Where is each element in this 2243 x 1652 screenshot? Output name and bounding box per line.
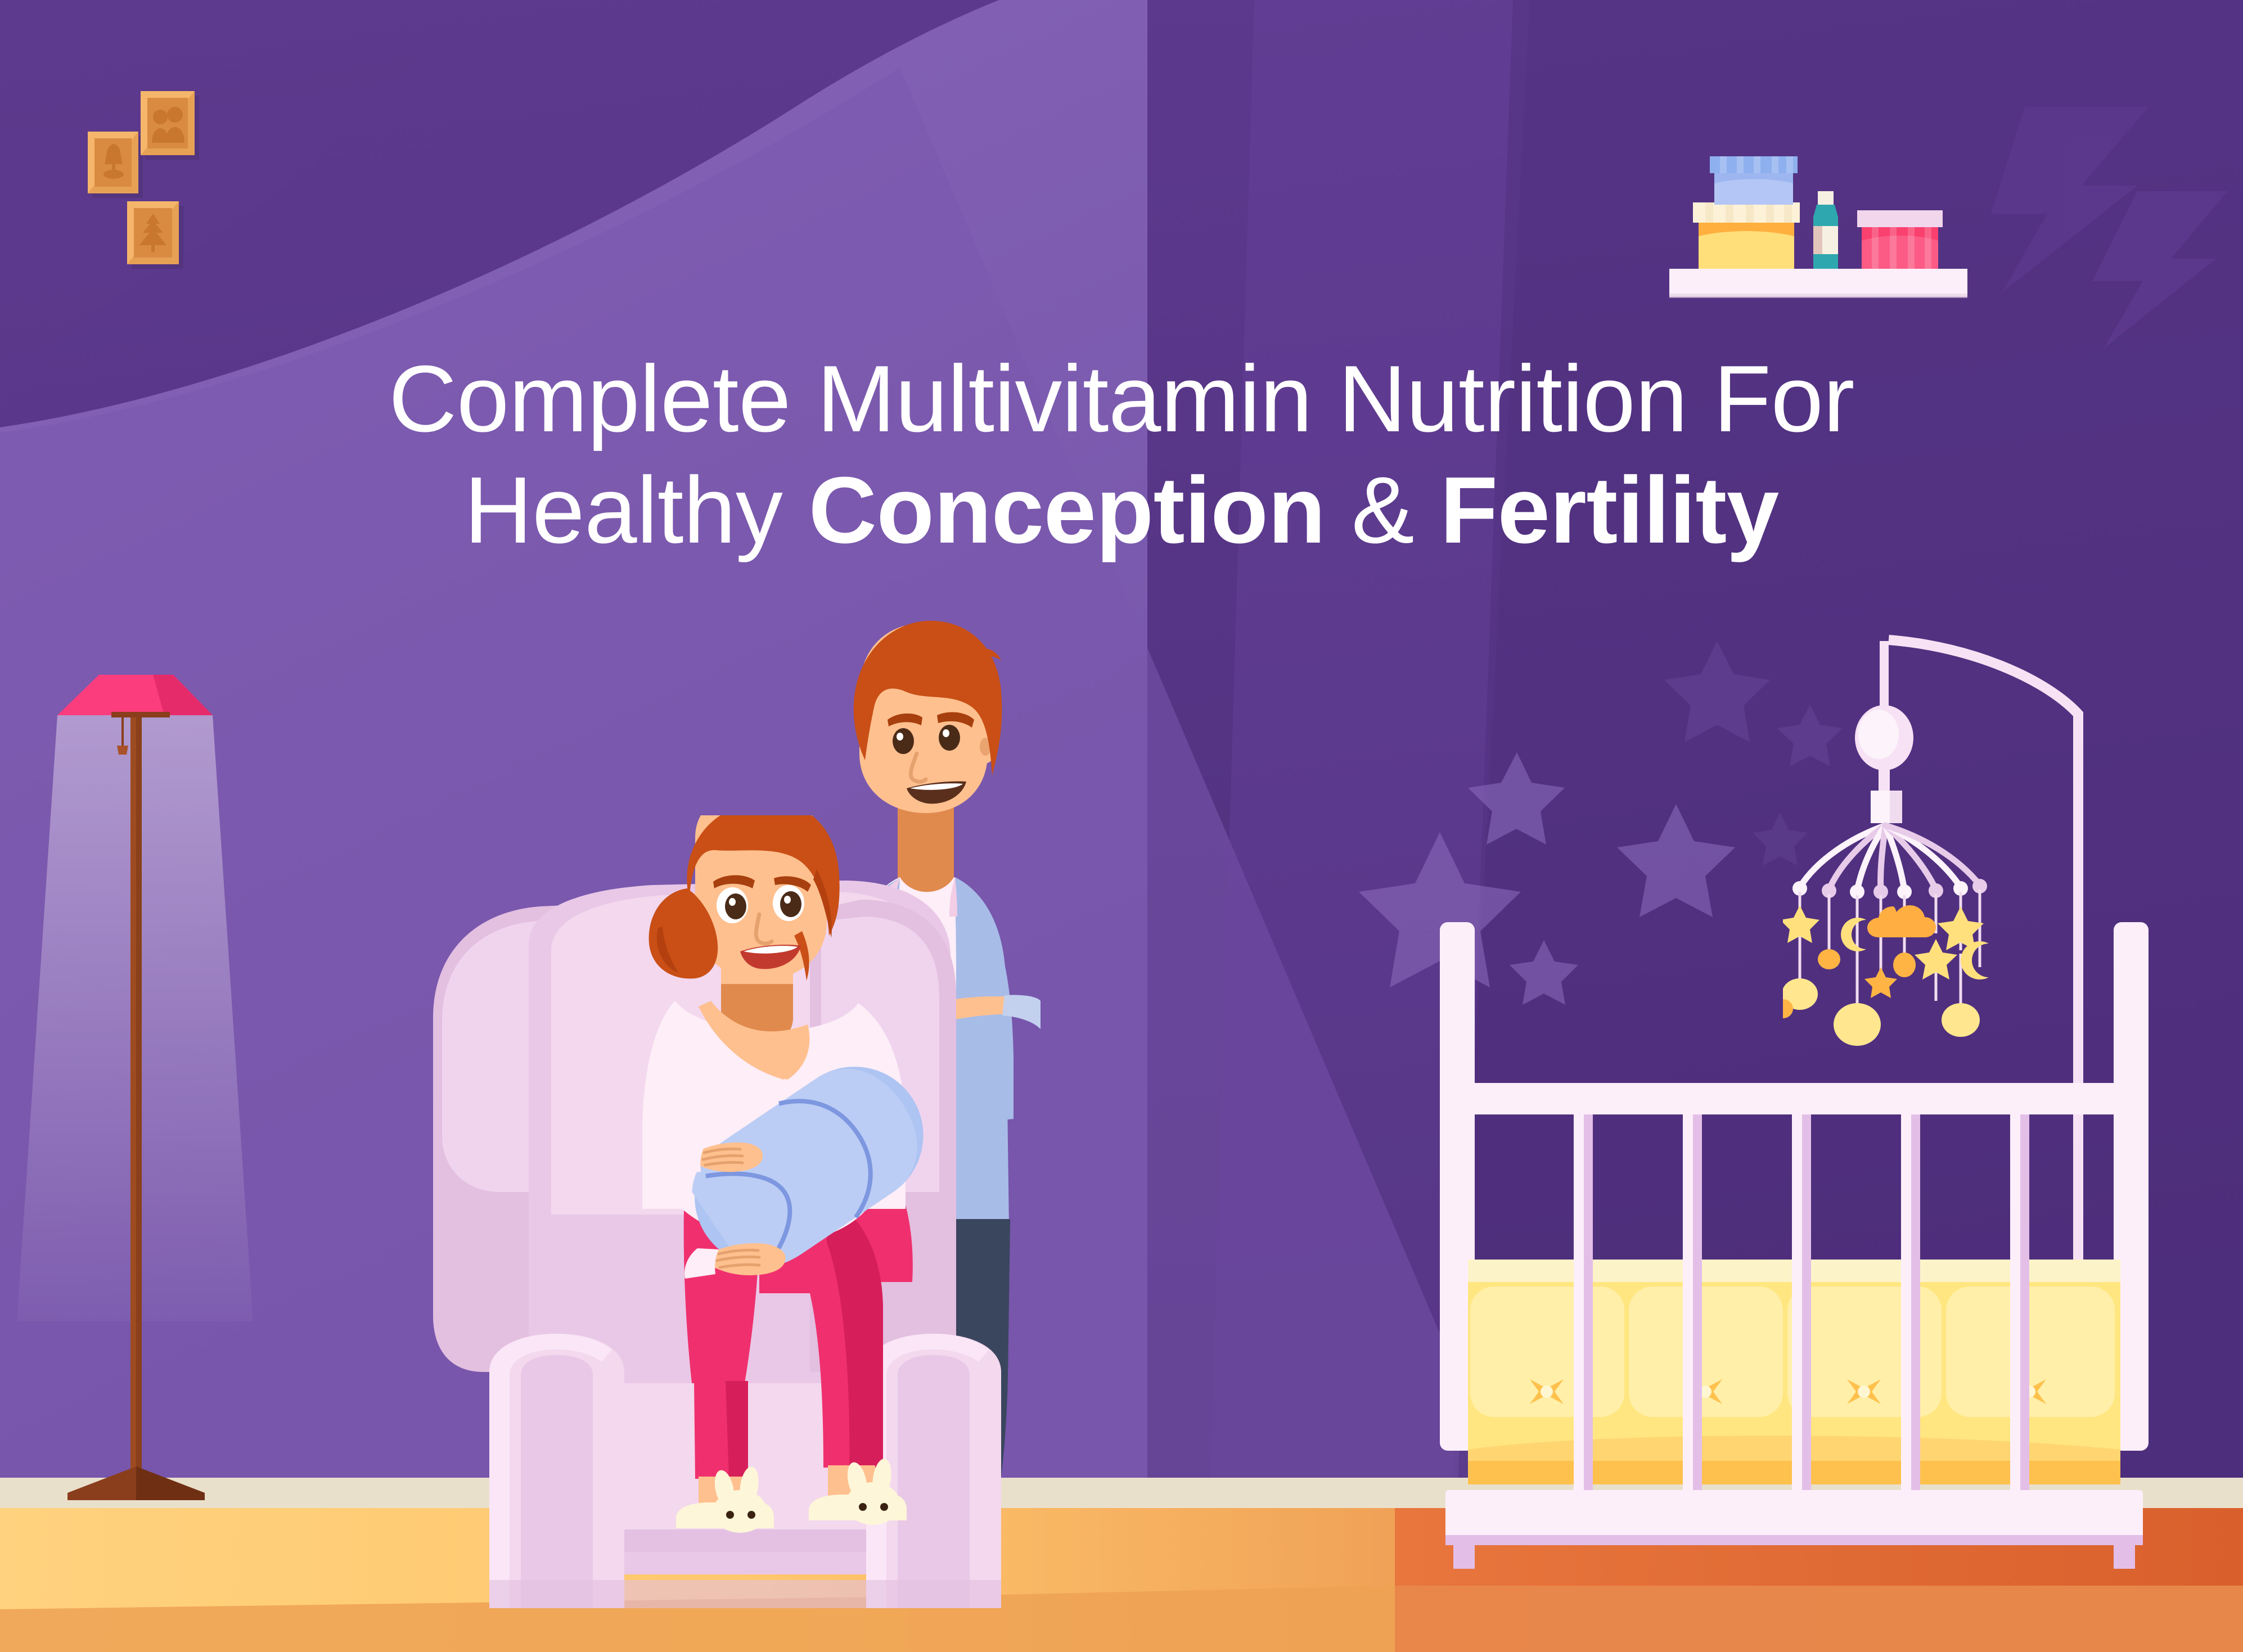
- yellow-jar-highlight: [1699, 231, 1794, 270]
- lamp-pole-shade: [136, 708, 142, 1493]
- shelf-board-edge: [1669, 294, 1967, 298]
- nursery-illustration-canvas: Complete Multivitamin Nutrition For Heal…: [0, 0, 2243, 1652]
- crib-bottom-rail-edge: [1445, 1535, 2143, 1545]
- mother-slipper-left: [676, 1465, 774, 1533]
- crib-leg-right: [2114, 1541, 2135, 1569]
- stacked-jars: [1693, 156, 1800, 270]
- lamp-pull-chain: [121, 717, 124, 746]
- floor-band-right: [1395, 1586, 2243, 1652]
- frame-tree: [127, 201, 183, 269]
- mother-leg-left-shade: [726, 1381, 748, 1479]
- baby-crib: [1429, 922, 2160, 1569]
- father-eye-left: [893, 728, 914, 754]
- bottle-cap: [1818, 191, 1834, 205]
- mobile-arms: [1800, 825, 1980, 891]
- blue-jar-highlight: [1714, 179, 1793, 205]
- crib-top-rail: [1451, 1083, 2137, 1114]
- wall-shelf-group: [1665, 135, 2070, 326]
- pink-jar: [1857, 210, 1943, 270]
- lamp-base-shade: [136, 1466, 205, 1500]
- mobile-arm-knobs: [1792, 879, 1987, 899]
- bottle-label-shade: [1813, 226, 1822, 254]
- teal-bottle: [1813, 191, 1838, 271]
- mother-cuff-upper: [670, 1146, 704, 1175]
- lamp-shade-rim: [111, 712, 170, 717]
- mother-eye-right: [780, 891, 801, 917]
- crib-leg-left: [1453, 1541, 1475, 1569]
- crib-bottom-rail: [1445, 1490, 2143, 1543]
- mobile-neck: [1879, 766, 1890, 793]
- lamp-pull-knob: [117, 746, 128, 755]
- mother-eye-left: [725, 893, 746, 919]
- pink-jar-lid: [1857, 210, 1943, 227]
- swaddled-baby: [636, 1012, 984, 1327]
- shelf-board: [1669, 269, 1967, 297]
- mobile-ball-highlight: [1858, 710, 1899, 759]
- father-eye-right: [939, 725, 960, 751]
- picture-frames-group: [73, 73, 326, 354]
- mother-cuff-lower: [684, 1248, 719, 1279]
- armchair-arm-left-inner: [521, 1355, 593, 1608]
- frame-lamp: [88, 132, 143, 198]
- mobile-hub-light: [1871, 791, 1890, 823]
- floor-lamp: [17, 669, 253, 1625]
- frame-couple: [141, 91, 199, 160]
- mother-slipper-right: [809, 1457, 907, 1525]
